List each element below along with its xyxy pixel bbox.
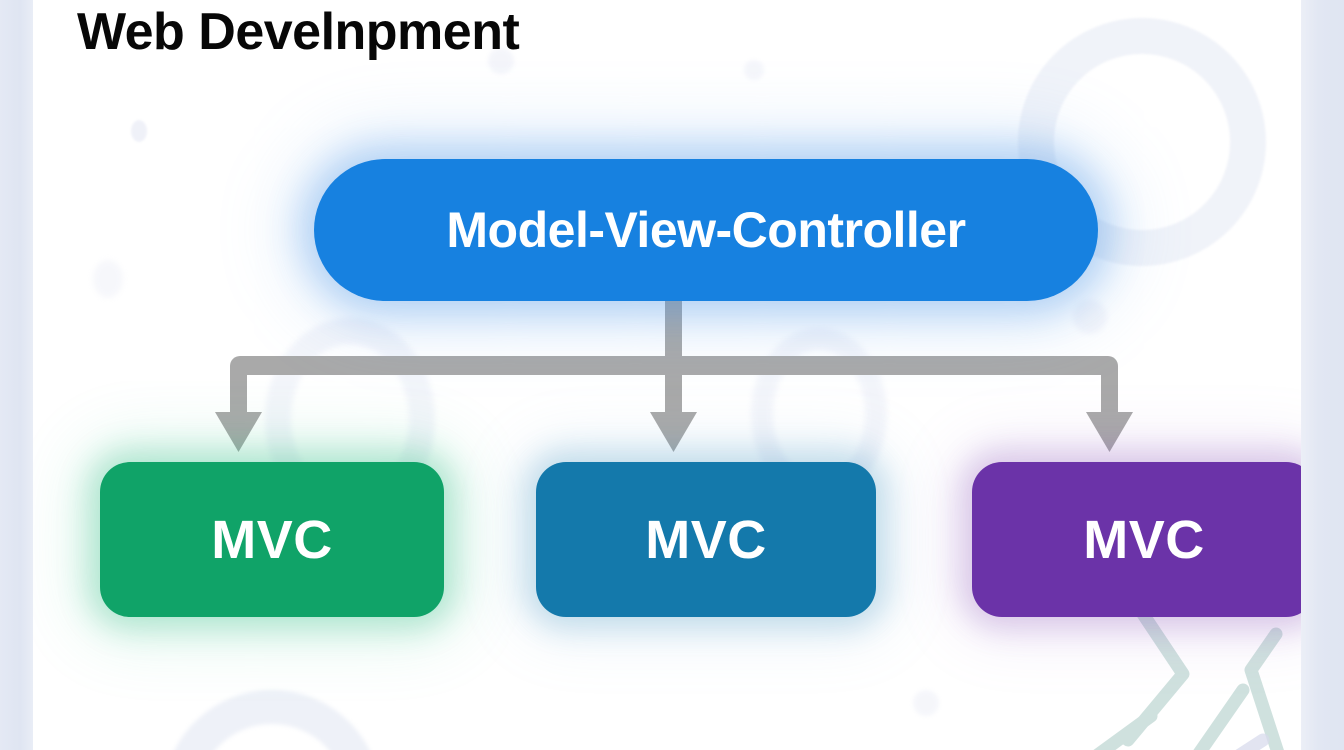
arrowhead-left bbox=[215, 412, 262, 452]
diagram-node-root-label: Model-View-Controller bbox=[446, 201, 965, 259]
diagram-node-view-label: MVC bbox=[645, 509, 767, 571]
connector-bar bbox=[230, 356, 1118, 375]
diagram-node-model[interactable]: MVC bbox=[100, 462, 444, 617]
page-gutter-left bbox=[0, 0, 33, 750]
connector-drop-center bbox=[665, 366, 682, 424]
diagram-node-controller[interactable]: MVC bbox=[972, 462, 1301, 617]
page-title: Web Develnpment bbox=[77, 2, 519, 62]
dot-decoration-a bbox=[131, 120, 147, 142]
screenshot-root: Web Develnpment Model-View- bbox=[0, 0, 1344, 750]
code-brackets-lineart-icon bbox=[1033, 612, 1301, 750]
dot-decoration-f bbox=[93, 260, 123, 298]
connector-drop-right bbox=[1101, 366, 1118, 424]
diagram-node-controller-label: MVC bbox=[1083, 509, 1205, 571]
ring-decoration-bottom-left bbox=[163, 690, 381, 750]
diagram-connectors bbox=[33, 0, 1301, 750]
connector-drop-left bbox=[230, 366, 247, 424]
connector-stem bbox=[665, 298, 682, 428]
dot-decoration-d bbox=[1073, 300, 1107, 334]
diagram-node-root[interactable]: Model-View-Controller bbox=[314, 159, 1098, 301]
dot-decoration-e bbox=[913, 690, 939, 716]
arrowhead-right bbox=[1086, 412, 1133, 452]
diagram-node-view[interactable]: MVC bbox=[536, 462, 876, 617]
dot-decoration-c bbox=[744, 60, 764, 80]
page-gutter-right bbox=[1301, 0, 1344, 750]
content-card: Web Develnpment Model-View- bbox=[33, 0, 1301, 750]
diagram-node-model-label: MVC bbox=[211, 509, 333, 571]
arrowhead-center bbox=[650, 412, 697, 452]
